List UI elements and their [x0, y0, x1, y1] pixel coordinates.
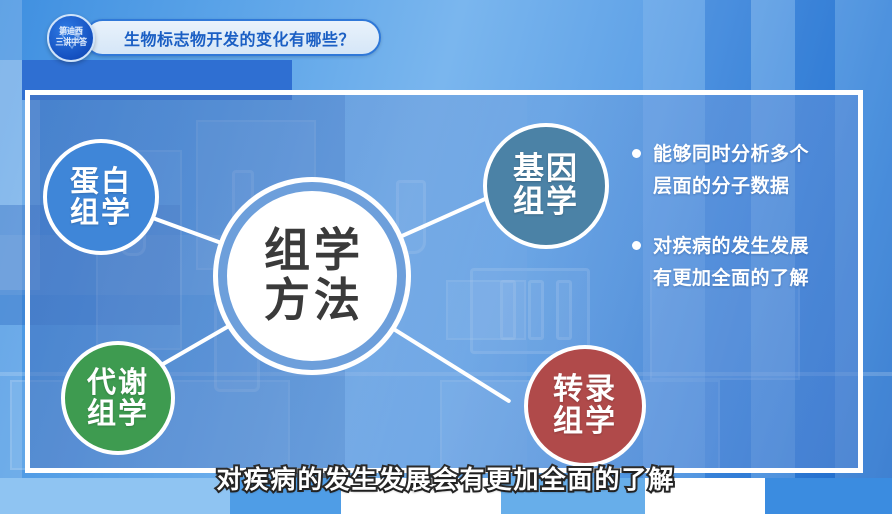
node-genomics[interactable]: 基因 组学: [483, 123, 609, 249]
list-item: 对疾病的发生发展 有更加全面的了解: [632, 230, 872, 294]
node-metabolomics-line2: 组学: [87, 398, 149, 429]
bullet-1-line-1: 能够同时分析多个: [653, 138, 809, 170]
bullet-dot-icon: [632, 149, 641, 158]
node-proteomics-line1: 蛋白: [70, 166, 132, 197]
list-item: 能够同时分析多个 层面的分子数据: [632, 138, 872, 202]
node-transcriptomics-line1: 转录: [553, 374, 617, 406]
node-transcriptomics[interactable]: 转录 组学: [524, 345, 646, 467]
node-center-omics-methods[interactable]: 组学 方法: [218, 182, 406, 370]
caption-subtitle: 对疾病的发生发展会有更加全面的了解: [0, 460, 892, 496]
node-metabolomics-line1: 代谢: [87, 367, 149, 398]
bullet-2-line-2: 有更加全面的了解: [653, 262, 809, 294]
benefit-list: 能够同时分析多个 层面的分子数据 对疾病的发生发展 有更加全面的了解: [632, 138, 872, 322]
bullet-text-1: 能够同时分析多个 层面的分子数据: [653, 138, 809, 202]
node-genomics-line2: 组学: [513, 186, 579, 219]
node-proteomics[interactable]: 蛋白 组学: [43, 139, 159, 255]
node-metabolomics[interactable]: 代谢 组学: [61, 341, 175, 455]
logo-line-1: 第迪西: [59, 27, 82, 38]
bullet-2-line-1: 对疾病的发生发展: [653, 230, 809, 262]
video-frame: 第迪西 三讲中答 生物标志物开发的变化有哪些？ 蛋白 组学 基因 组学 代谢 组…: [0, 0, 892, 514]
logo-line-2: 三讲中答: [55, 38, 86, 49]
node-genomics-line1: 基因: [513, 153, 579, 186]
node-transcriptomics-line2: 组学: [553, 406, 617, 438]
center-line1: 组学: [260, 226, 364, 276]
bullet-text-2: 对疾病的发生发展 有更加全面的了解: [653, 230, 809, 294]
bullet-dot-icon: [632, 241, 641, 250]
center-line2: 方法: [260, 276, 364, 326]
channel-logo-badge: 第迪西 三讲中答: [47, 14, 95, 62]
node-proteomics-line2: 组学: [70, 197, 132, 228]
bullet-1-line-2: 层面的分子数据: [653, 170, 809, 202]
